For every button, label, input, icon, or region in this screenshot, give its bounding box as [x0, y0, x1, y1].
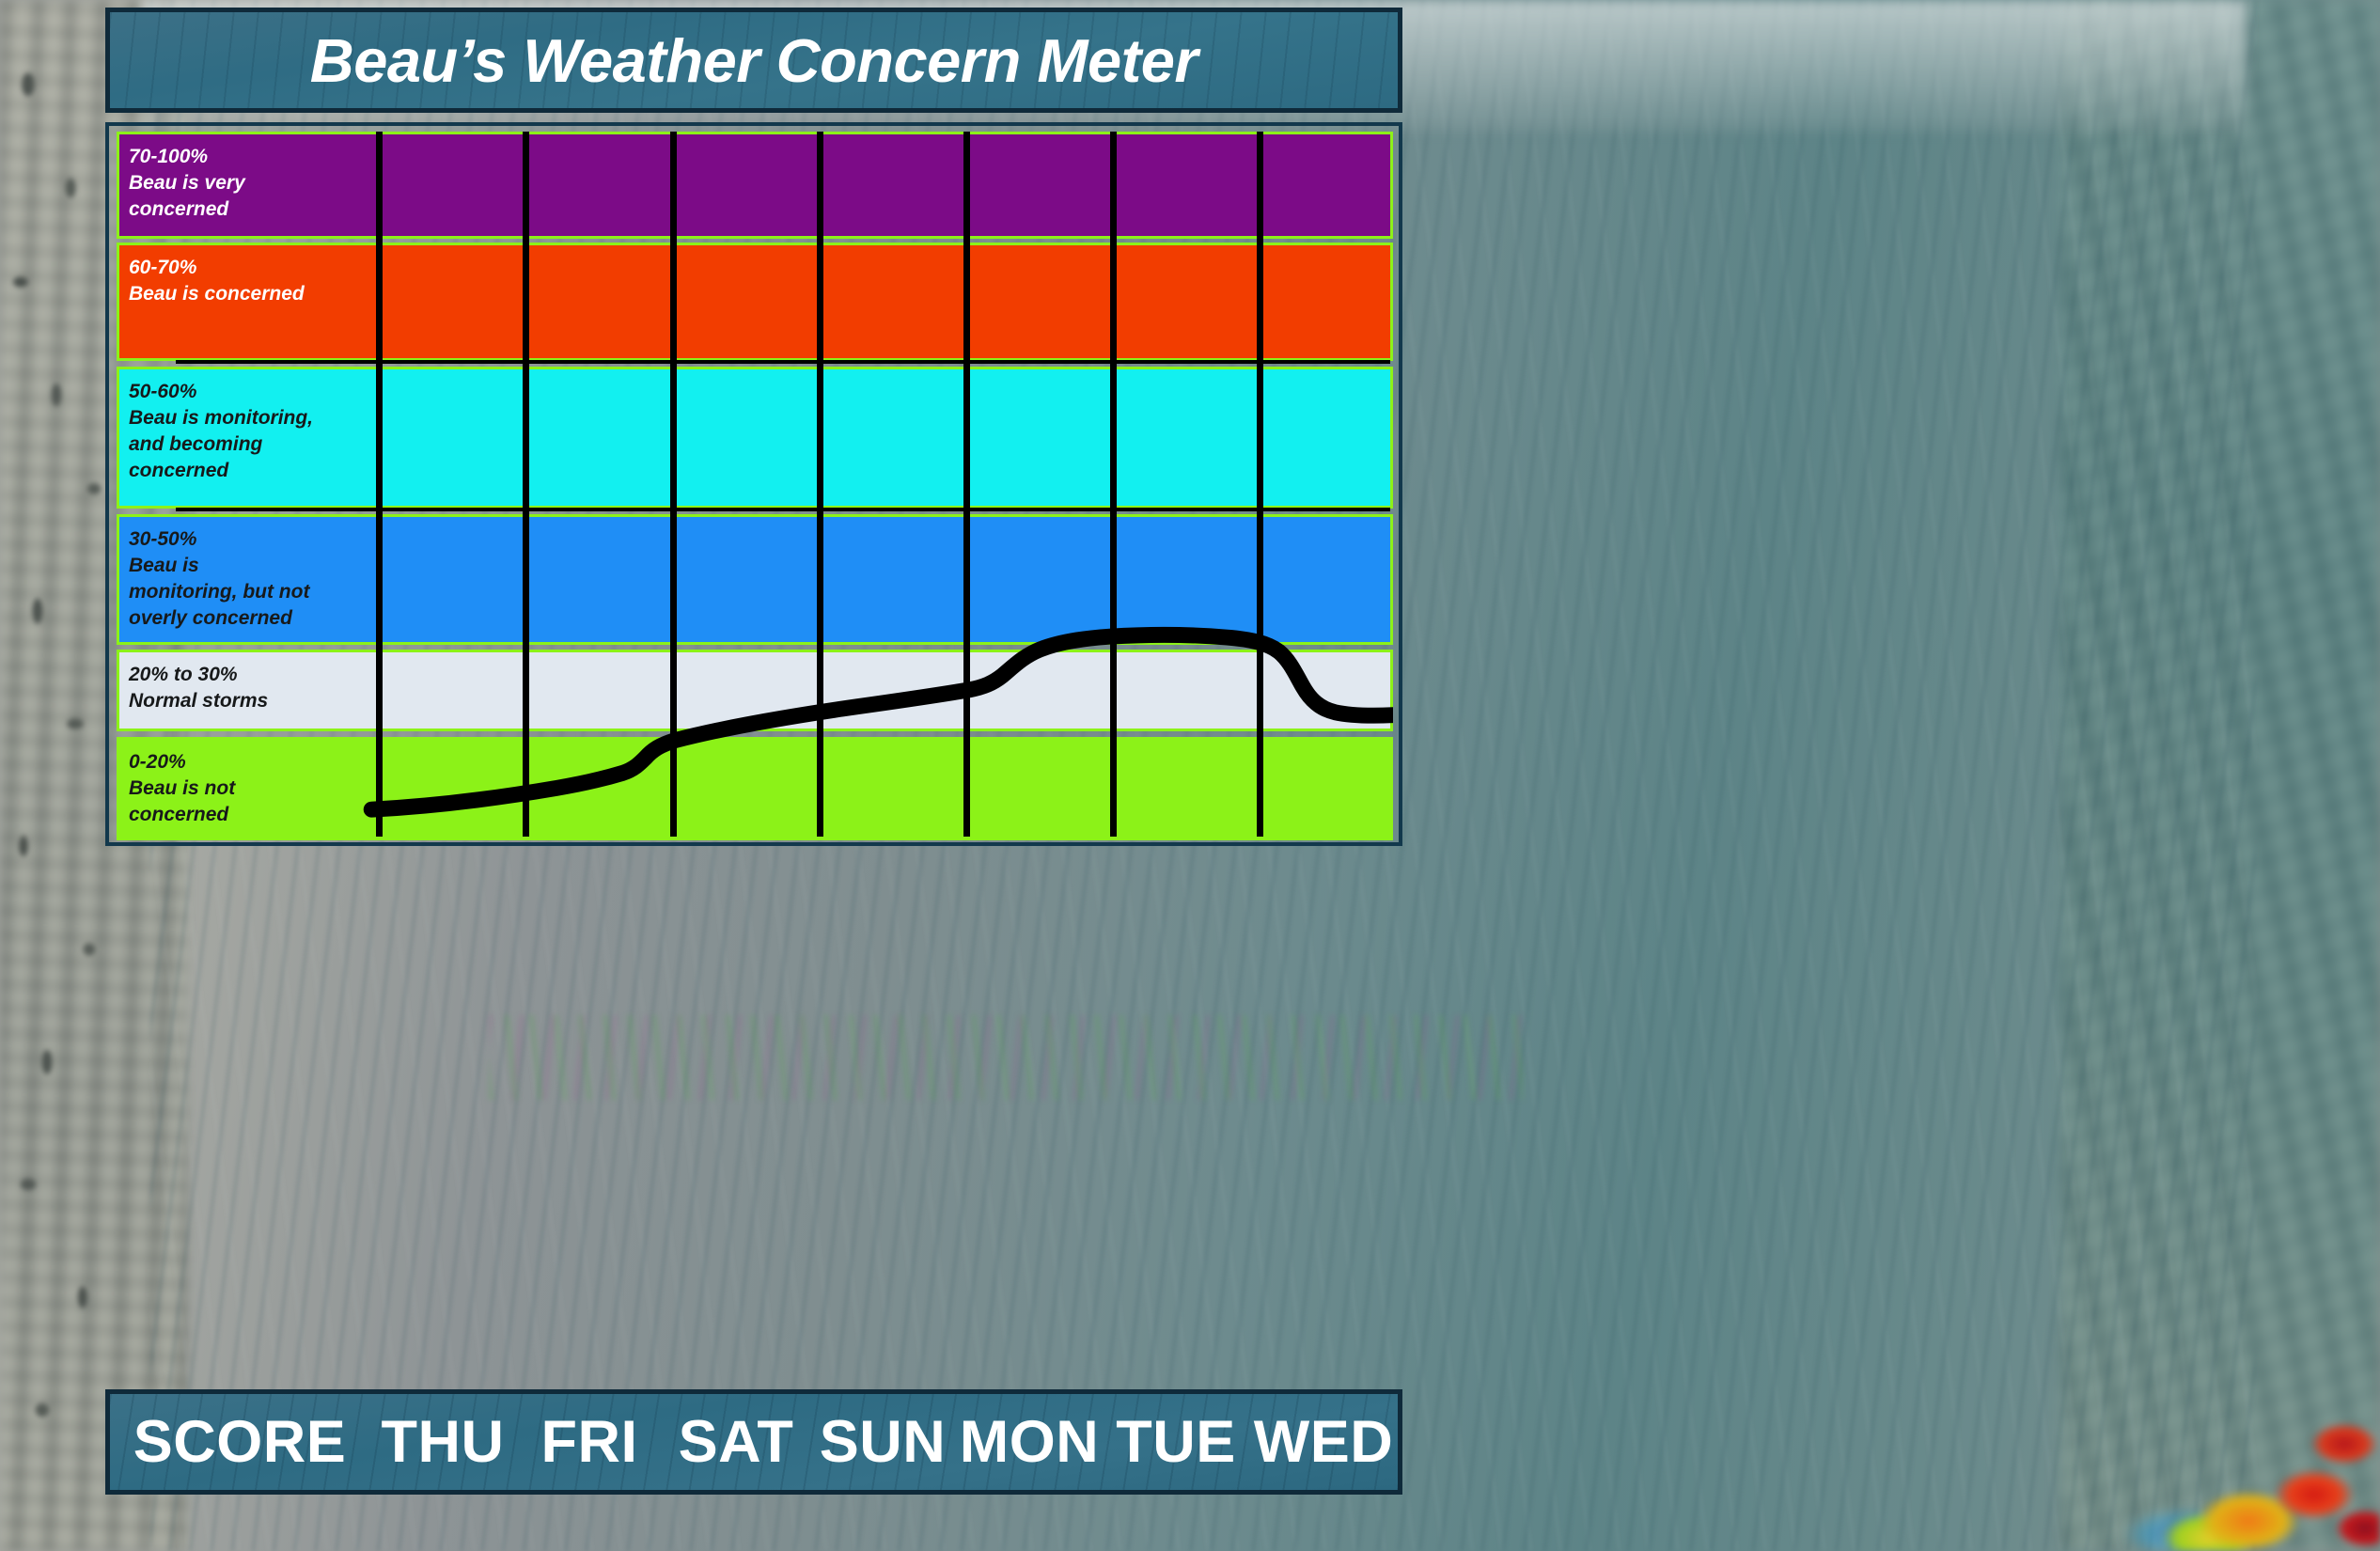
concern-trend-path	[371, 634, 1393, 809]
day-label-sat: SAT	[663, 1394, 809, 1490]
score-label: SCORE	[117, 1394, 362, 1490]
title-bar: Beau’s Weather Concern Meter	[105, 8, 1402, 113]
concern-trend-svg	[117, 132, 1393, 837]
page-title: Beau’s Weather Concern Meter	[310, 25, 1198, 96]
day-label-tue: TUE	[1103, 1394, 1249, 1490]
day-label-fri: FRI	[516, 1394, 663, 1490]
weather-concern-meter-graphic: Beau’s Weather Concern Meter 70-100% Bea…	[0, 0, 2380, 1551]
day-scale-bar: SCORE THU FRI SAT SUN MON TUE WED	[105, 1389, 1402, 1495]
day-label-thu: THU	[369, 1394, 516, 1490]
day-label-wed: WED	[1249, 1394, 1398, 1490]
concern-trend-curve	[117, 132, 1393, 837]
day-label-sun: SUN	[809, 1394, 956, 1490]
concern-meter-chart: 70-100% Beau is very concerned 60-70% Be…	[105, 122, 1402, 846]
day-scale-labels: SCORE THU FRI SAT SUN MON TUE WED	[110, 1394, 1398, 1490]
day-label-mon: MON	[956, 1394, 1103, 1490]
